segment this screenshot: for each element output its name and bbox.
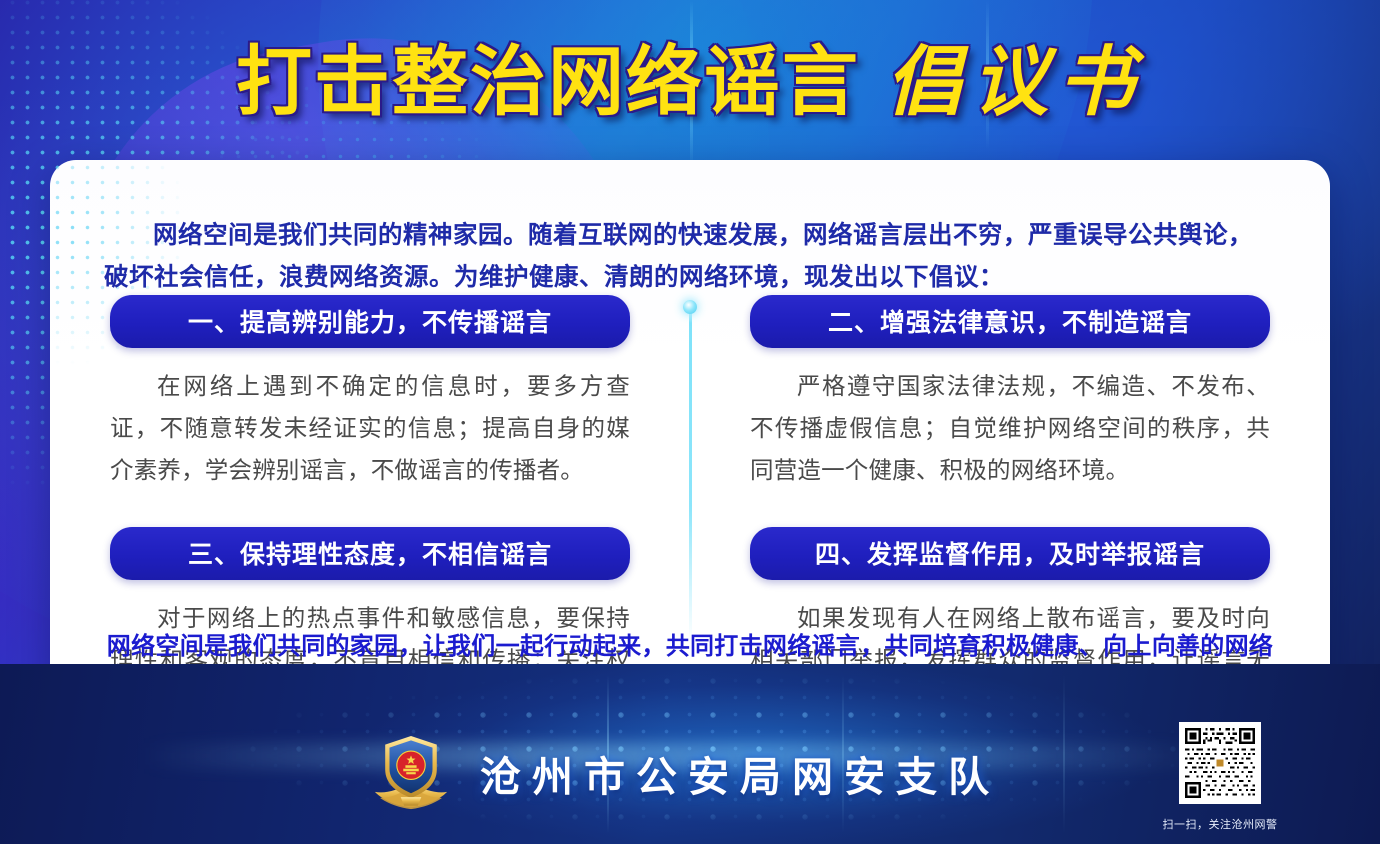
qr-block: 扫一扫，关注沧州网警 <box>1150 722 1290 832</box>
poster-title: 打击整治网络谣言倡议书 <box>0 44 1380 120</box>
footer-vertical-line-3 <box>1063 675 1065 833</box>
poster-root: 打击整治网络谣言倡议书 网络空间是我们共同的精神家园。随着互联网的快速发展，网络… <box>0 0 1380 844</box>
title-sub-text: 倡议书 <box>886 44 1144 120</box>
section-heading-four: 四、发挥监督作用，及时举报谣言 <box>750 527 1270 580</box>
title-main-text: 打击整治网络谣言 <box>236 44 860 120</box>
police-badge-icon <box>368 730 454 816</box>
section-heading-two: 二、增强法律意识，不制造谣言 <box>750 295 1270 348</box>
section-two: 二、增强法律意识，不制造谣言 严格遵守国家法律法规，不编造、不发布、不传播虚假信… <box>750 295 1270 491</box>
organization-name: 沧州市公安局网安支队 <box>480 743 1000 803</box>
section-body-two: 严格遵守国家法律法规，不编造、不发布、不传播虚假信息；自觉维护网络空间的秩序，共… <box>750 366 1270 491</box>
qr-code-icon[interactable] <box>1179 722 1261 804</box>
content-card: 网络空间是我们共同的精神家园。随着互联网的快速发展，网络谣言层出不穷，严重误导公… <box>50 160 1330 720</box>
section-body-one: 在网络上遇到不确定的信息时，要多方查证，不随意转发未经证实的信息；提高自身的媒介… <box>110 366 630 491</box>
section-one: 一、提高辨别能力，不传播谣言 在网络上遇到不确定的信息时，要多方查证，不随意转发… <box>110 295 630 491</box>
intro-paragraph: 网络空间是我们共同的精神家园。随着互联网的快速发展，网络谣言层出不穷，严重误导公… <box>104 215 1276 299</box>
qr-caption: 扫一扫，关注沧州网警 <box>1150 816 1290 832</box>
organization-row: 沧州市公安局网安支队 <box>368 730 1000 816</box>
section-heading-three: 三、保持理性态度，不相信谣言 <box>110 527 630 580</box>
section-heading-one: 一、提高辨别能力，不传播谣言 <box>110 295 630 348</box>
